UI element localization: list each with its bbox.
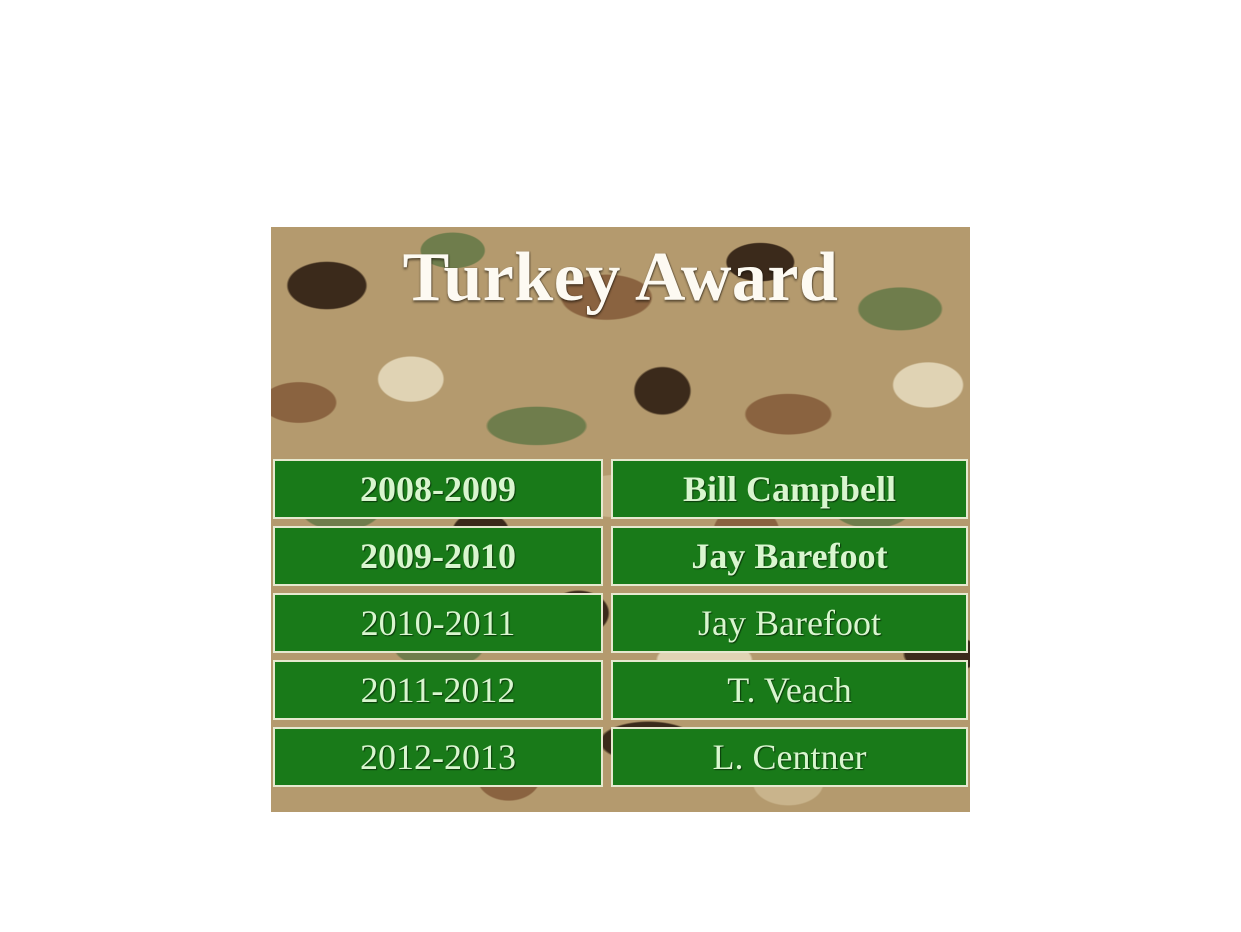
award-year-cell: 2012-2013 <box>273 727 603 787</box>
award-recipient-cell: L. Centner <box>611 727 968 787</box>
table-row: 2010-2011Jay Barefoot <box>273 593 968 653</box>
table-row: 2011-2012T. Veach <box>273 660 968 720</box>
awards-table: 2008-2009Bill Campbell2009-2010Jay Baref… <box>273 459 968 804</box>
table-row: 2012-2013L. Centner <box>273 727 968 787</box>
table-row: 2008-2009Bill Campbell <box>273 459 968 519</box>
plaque-header-banner: Turkey Award <box>271 227 970 459</box>
turkey-award-plaque: Turkey Award 2008-2009Bill Campbell2009-… <box>271 227 970 812</box>
award-year-cell: 2011-2012 <box>273 660 603 720</box>
award-recipient-cell: T. Veach <box>611 660 968 720</box>
table-row: 2009-2010Jay Barefoot <box>273 526 968 586</box>
award-year-cell: 2008-2009 <box>273 459 603 519</box>
award-recipient-cell: Jay Barefoot <box>611 593 968 653</box>
award-year-cell: 2009-2010 <box>273 526 603 586</box>
award-recipient-cell: Jay Barefoot <box>611 526 968 586</box>
award-recipient-cell: Bill Campbell <box>611 459 968 519</box>
page-title: Turkey Award <box>403 241 839 315</box>
award-year-cell: 2010-2011 <box>273 593 603 653</box>
